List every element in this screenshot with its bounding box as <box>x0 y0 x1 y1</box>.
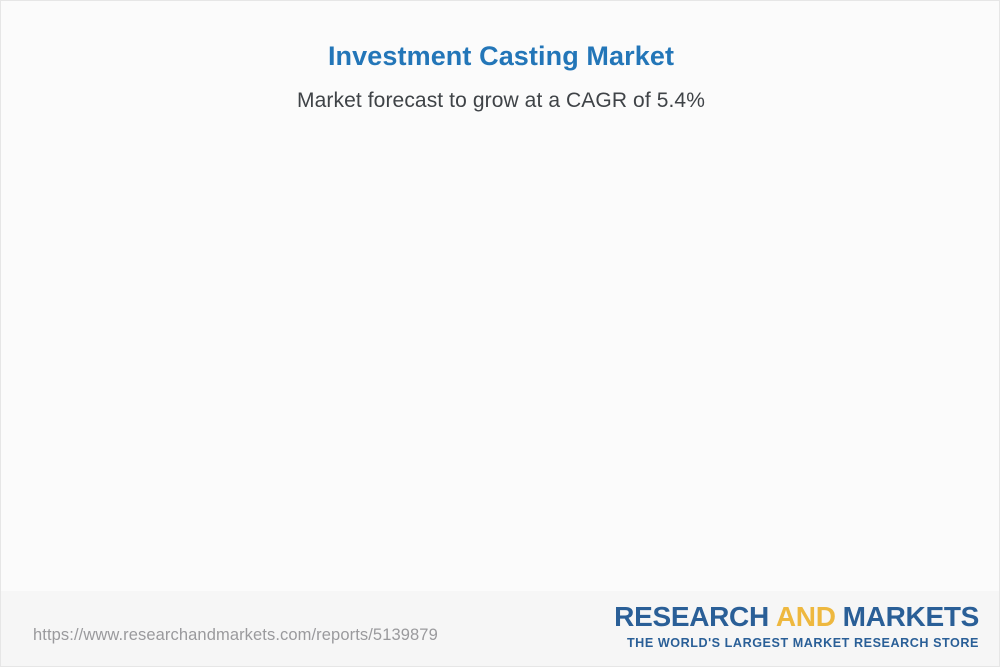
chart-plot-area: USD 19.3 Billion 2024 USD 26.5 Billion 2 <box>1 1 1000 601</box>
research-and-markets-logo[interactable]: RESEARCHANDMARKETS THE WORLD'S LARGEST M… <box>614 603 979 650</box>
logo-word-and: AND <box>769 601 843 632</box>
logo-tagline: THE WORLD'S LARGEST MARKET RESEARCH STOR… <box>614 636 979 650</box>
logo-wordmark: RESEARCHANDMARKETS <box>614 603 979 631</box>
chart-image: Investment Casting Market Market forecas… <box>0 0 1000 667</box>
report-url[interactable]: https://www.researchandmarkets.com/repor… <box>33 626 438 645</box>
logo-word-research: RESEARCH <box>614 601 769 632</box>
chart-footer: https://www.researchandmarkets.com/repor… <box>1 591 1000 666</box>
logo-word-markets: MARKETS <box>843 601 979 632</box>
